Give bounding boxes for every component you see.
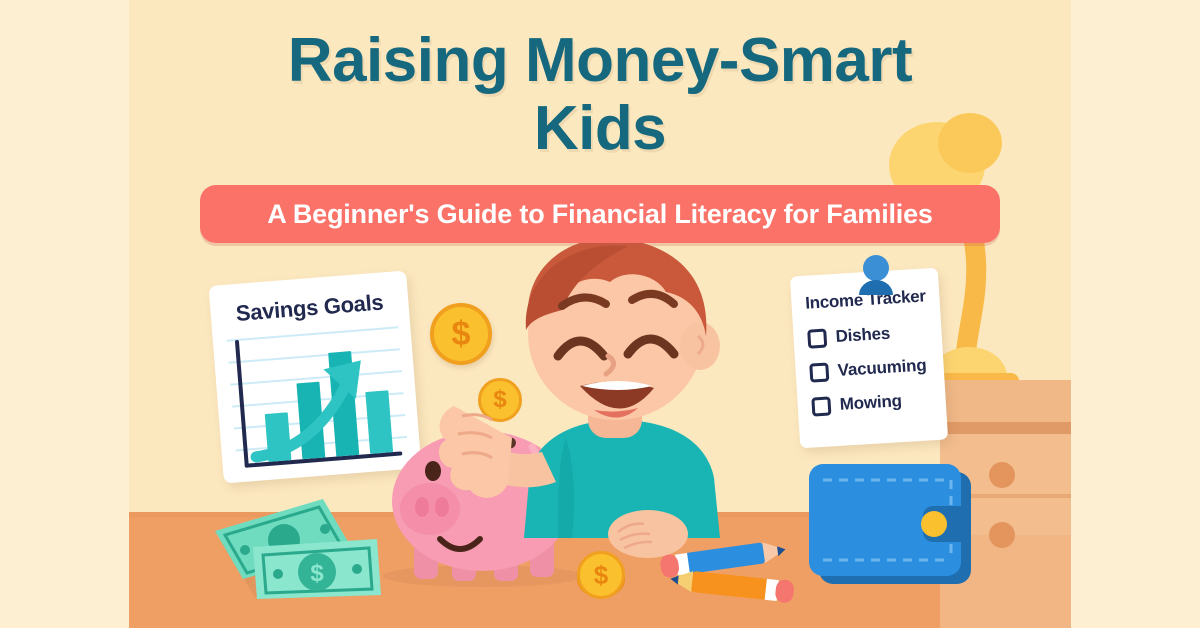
income-tracker-list: Dishes Vacuuming Mowing (807, 314, 943, 424)
person-avatar-icon (855, 255, 897, 295)
dresser-top (940, 380, 1071, 422)
savings-goals-title: Savings Goals (210, 287, 409, 328)
dollar-bills-icon: $ (205, 495, 390, 600)
tracker-item-label: Mowing (839, 391, 902, 415)
tracker-item-label: Vacuuming (837, 356, 927, 381)
checkbox-icon[interactable] (811, 396, 831, 416)
chart-trend-arrow (243, 336, 400, 465)
subtitle-banner: A Beginner's Guide to Financial Literacy… (200, 185, 1000, 243)
child-character (470, 238, 770, 568)
title-line-1: Raising Money-Smart (288, 26, 912, 95)
savings-bar-chart (235, 324, 405, 468)
subtitle-text: A Beginner's Guide to Financial Literacy… (267, 199, 932, 230)
checkbox-icon[interactable] (809, 362, 829, 382)
page-title: Raising Money-Smart Kids (0, 30, 1200, 160)
drawer-knob-icon (989, 522, 1015, 548)
dresser-band (940, 422, 1071, 434)
svg-text:$: $ (310, 560, 324, 587)
tracker-item-label: Dishes (835, 324, 891, 347)
title-line-2: Kids (0, 98, 1200, 160)
checkbox-icon[interactable] (807, 328, 827, 348)
coin-dollar-symbol: $ (577, 551, 625, 599)
illustration-canvas: Savings Goals $ (0, 0, 1200, 628)
pencils-icon (650, 535, 810, 605)
wallet-icon (805, 458, 980, 593)
desk-coin-icon: $ (577, 551, 625, 599)
drawer-knob-icon (989, 462, 1015, 488)
tracker-item-mowing[interactable]: Mowing (811, 382, 943, 424)
